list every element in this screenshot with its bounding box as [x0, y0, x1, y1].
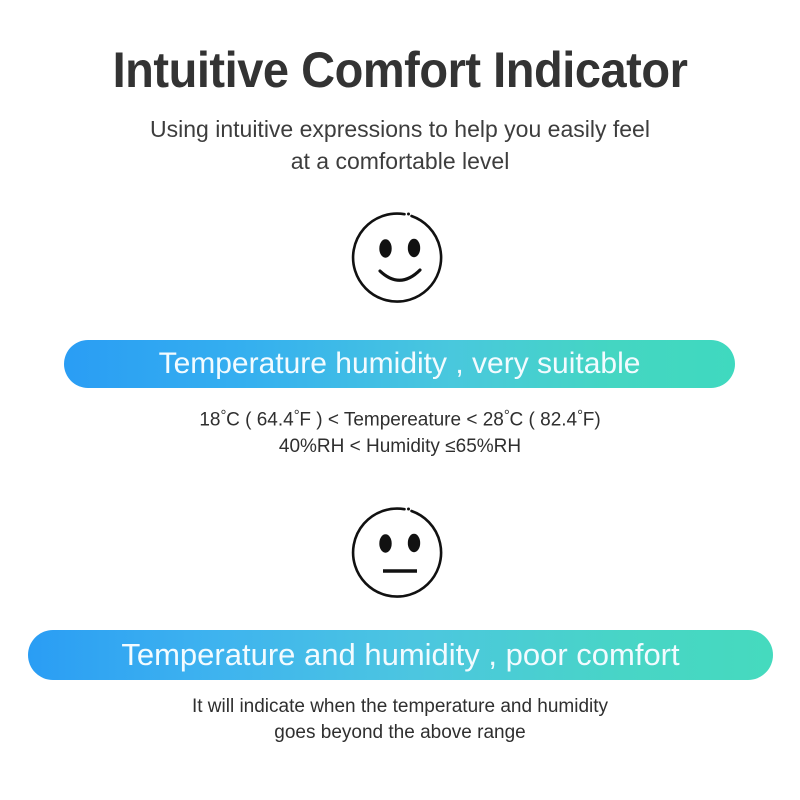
subtitle-line-2: at a comfortable level	[0, 145, 800, 177]
status-pill-poor-comfort: Temperature and humidity , poor comfort	[28, 630, 773, 680]
comfort-range-humidity: 40%RH < Humidity ≤65%RH	[0, 434, 800, 460]
poor-comfort-caption-line-1: It will indicate when the temperature an…	[0, 694, 800, 720]
status-pill-comfortable: Temperature humidity , very suitable	[64, 340, 735, 388]
poor-comfort-caption: It will indicate when the temperature an…	[0, 694, 800, 746]
poor-comfort-caption-line-2: goes beyond the above range	[0, 720, 800, 746]
subtitle-line-1: Using intuitive expressions to help you …	[0, 113, 800, 145]
page-title: Intuitive Comfort Indicator	[24, 40, 776, 100]
page-subtitle: Using intuitive expressions to help you …	[0, 113, 800, 177]
comfort-range-temperature: 18°C ( 64.4°F ) < Tempereature < 28°C ( …	[0, 403, 800, 434]
smiley-happy-face-icon	[350, 208, 450, 308]
neutral-face-icon	[350, 503, 450, 603]
comfort-indicator-page: Intuitive Comfort Indicator Using intuit…	[0, 0, 800, 800]
comfort-range-caption: 18°C ( 64.4°F ) < Tempereature < 28°C ( …	[0, 403, 800, 460]
